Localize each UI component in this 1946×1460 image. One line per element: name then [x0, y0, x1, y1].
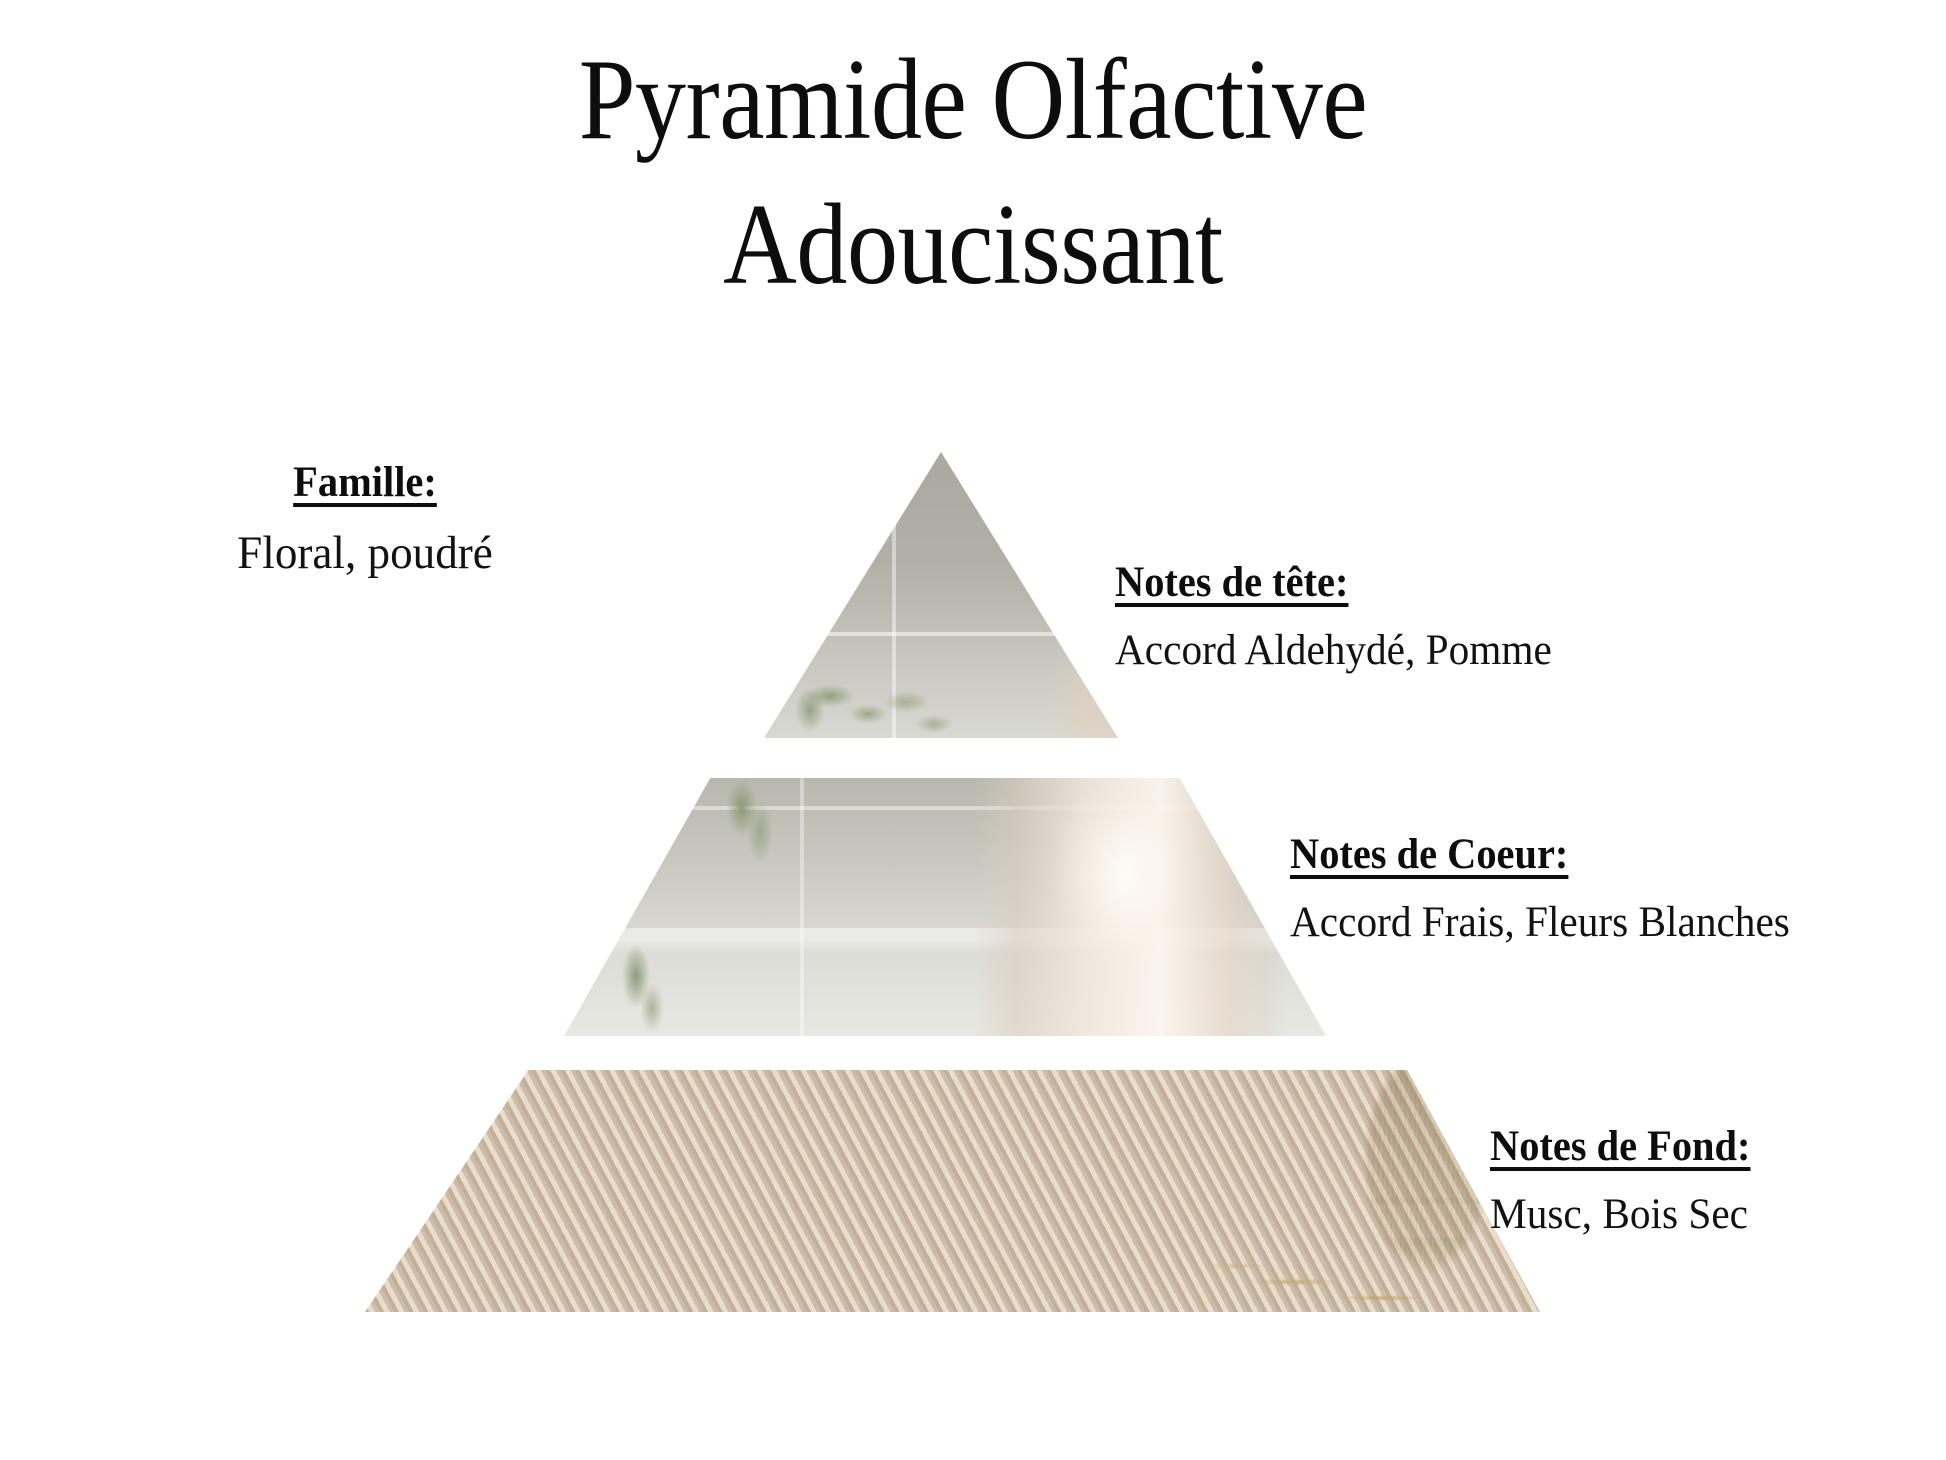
notes-fond-value: Musc, Bois Sec: [1490, 1189, 1756, 1241]
notes-coeur-value: Accord Frais, Fleurs Blanches: [1290, 897, 1790, 949]
famille-label-block: Famille: Floral, poudré: [155, 458, 575, 581]
pyramid-band-bottom: [365, 1070, 1540, 1312]
band-bottom-photo: [365, 1070, 1540, 1312]
band-top-photo: [764, 452, 1118, 738]
pyramid-band-top: [764, 452, 1118, 738]
pyramid-band-middle: [564, 778, 1326, 1036]
famille-heading: Famille:: [168, 458, 563, 509]
famille-value: Floral, poudré: [163, 525, 566, 581]
notes-tete-heading: Notes de tête:: [1115, 558, 1543, 609]
notes-tete-value: Accord Aldehydé, Pomme: [1115, 625, 1552, 677]
notes-fond-heading: Notes de Fond:: [1490, 1122, 1750, 1173]
notes-fond-label-block: Notes de Fond: Musc, Bois Sec: [1490, 1122, 1767, 1240]
notes-coeur-label-block: Notes de Coeur: Accord Frais, Fleurs Bla…: [1290, 830, 1811, 948]
notes-coeur-heading: Notes de Coeur:: [1290, 830, 1779, 881]
notes-tete-label-block: Notes de tête: Accord Aldehydé, Pomme: [1115, 558, 1570, 676]
band-middle-photo: [564, 778, 1326, 1036]
olfactory-pyramid: [0, 0, 1946, 1460]
